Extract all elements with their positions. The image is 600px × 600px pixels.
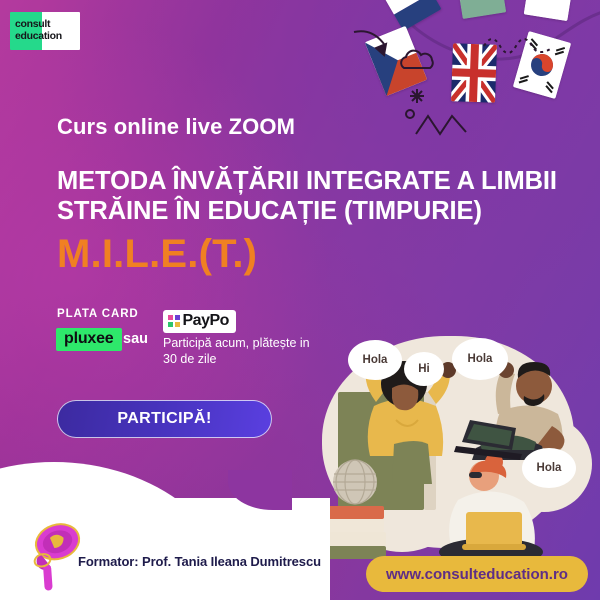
star-doodle <box>409 88 425 104</box>
speech-bubble: Hola <box>452 338 508 380</box>
classroom-illustration: Hola Hi Hola Hola <box>300 330 600 560</box>
hero-acronym: M.I.L.E.(T.) <box>57 232 257 277</box>
hero-kicker: Curs online live ZOOM <box>57 114 295 140</box>
participate-button[interactable]: PARTICIPĂ! <box>57 400 272 438</box>
squiggle-doodle <box>482 28 554 64</box>
laptop-icon <box>452 416 532 462</box>
logo-line-2: education <box>15 31 62 43</box>
hero-title: METODA ÎNVĂȚĂRII INTEGRATE A LIMBII STRĂ… <box>57 166 577 226</box>
paypo-note: Participă acum, plătește in 30 de zile <box>163 336 313 367</box>
speech-bubble: Hola <box>522 448 576 488</box>
logo-line-1: consult <box>15 19 62 31</box>
payment-card-label: PLATA CARD <box>57 308 139 320</box>
trainer-name: Formator: Prof. Tania Ileana Dumitrescu <box>78 554 321 569</box>
paypo-squares-icon <box>168 315 180 327</box>
brand-logo[interactable]: consult education <box>10 12 80 50</box>
paypo-label: PayPo <box>183 312 229 330</box>
pluxee-badge[interactable]: pluxee <box>56 328 122 351</box>
logo-text: consult education <box>15 19 62 42</box>
speech-bubble: Hi <box>404 352 444 386</box>
website-pill[interactable]: www.consulteducation.ro <box>366 556 588 592</box>
promo-poster: consult education Curs online live ZOOM … <box>0 0 600 600</box>
payment-separator: sau <box>123 331 148 347</box>
paypo-logo[interactable]: PayPo <box>163 310 236 333</box>
speech-bubble: Hola <box>348 340 402 380</box>
zigzag-doodle <box>414 112 474 138</box>
arrow-doodle <box>352 26 396 64</box>
cloud-doodle <box>398 46 438 74</box>
